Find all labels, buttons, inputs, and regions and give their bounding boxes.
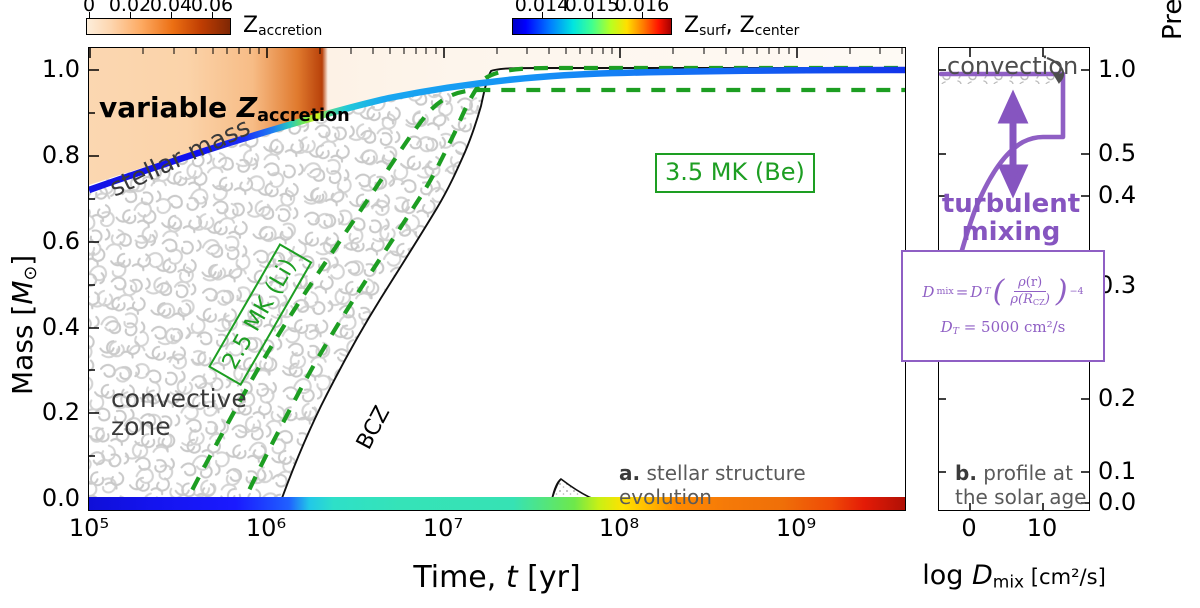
ylabel-symbol: M xyxy=(6,281,39,305)
ylabel-text: Mass [ xyxy=(6,305,39,395)
colorbar-z-surf-center-gradient xyxy=(512,18,672,35)
equation-lhs: D xyxy=(922,283,934,301)
colorbar-z-surf-center: 0.014 0.015 0.016 Zsurf, Zcenter xyxy=(512,18,672,38)
panel-a-caption-label: a. xyxy=(619,461,640,485)
xlabel-text: Time, xyxy=(413,560,506,595)
rho-symbol-den: ρ xyxy=(1010,292,1018,307)
rho-argument-den: (R xyxy=(1018,292,1033,307)
figure-root: 0 0.02 0.04 0.06 Zaccretion 0.014 0.015 … xyxy=(0,0,1200,608)
panel-a-caption: a. stellar structure evolution xyxy=(619,437,839,509)
panel-a-xtick-label: 10⁸ xyxy=(599,514,639,542)
equation-exponent: −4 xyxy=(1070,286,1084,297)
annotation-variable-prefix: variable xyxy=(99,91,237,124)
panel-a-ytick-label: 0.6 xyxy=(42,227,80,255)
panel-a-xlabel: Time, t [yr] xyxy=(413,560,580,595)
colorbar-tick-label: 0.015 xyxy=(565,0,619,16)
equation-paren-close: ) xyxy=(1056,274,1068,309)
xlabel-symbol: t xyxy=(506,560,518,595)
colorbar-title-symbol: Z xyxy=(243,13,258,38)
annotation-turbulent-mixing: turbulent mixing xyxy=(942,190,1080,246)
xlabel-b-subscript: mix xyxy=(993,573,1024,593)
panel-a-ytick-label: 0.0 xyxy=(42,484,80,512)
equation-density-ratio: ρ(r) ρ(RCZ) xyxy=(1006,276,1054,308)
panel-a-caption-text: stellar structure evolution xyxy=(619,461,806,509)
xlabel-b-unit: [cm²/s] xyxy=(1024,564,1106,589)
panel-b-caption: b. profile at the solar age xyxy=(955,437,1090,509)
panel-b-ytick-label: 0.2 xyxy=(1098,384,1136,412)
annotation-convective-zone: convective zone xyxy=(111,385,247,441)
xlabel-unit: [yr] xyxy=(518,560,581,595)
panel-b-xtick-label: 10 xyxy=(1027,514,1058,542)
ylabel-subscript: ⊙ xyxy=(21,266,41,281)
panel-b-xtick-label: 0 xyxy=(961,514,976,542)
panel-b-xlabel: log Dmix [cm²/s] xyxy=(922,560,1106,593)
panel-a-xtick-label: 10⁷ xyxy=(423,514,463,542)
colorbar-z-accretion: 0 0.02 0.04 0.06 Zaccretion xyxy=(86,18,231,38)
colorbar-title-subscript: surf xyxy=(699,23,726,39)
xlabel-b-text: log xyxy=(922,560,972,591)
ylabel-b-text: Present-day solar radius [ xyxy=(1158,0,1188,40)
panel-a-xtick-label: 10⁹ xyxy=(776,514,816,542)
panel-a-ylabel: Mass [M⊙] xyxy=(6,255,41,395)
colorbar-z-accretion-title: Zaccretion xyxy=(243,13,322,39)
rho-argument-den-close: ) xyxy=(1045,292,1050,307)
equation-dt: D xyxy=(970,283,982,301)
equation-dt-subscript: T xyxy=(984,286,990,297)
panel-a-ytick-label: 0.4 xyxy=(42,313,80,341)
panel-a-ytick-label: 0.8 xyxy=(42,141,80,169)
colorbar-z-surf-center-title: Zsurf, Zcenter xyxy=(684,13,799,39)
panel-b-ytick-label: 0.4 xyxy=(1098,181,1136,209)
panel-b-caption-label: b. xyxy=(955,461,977,485)
annotation-variable-z-accretion: variable Zaccretion xyxy=(99,58,350,126)
equation-dt-2: D xyxy=(941,318,953,336)
equation-line-1: Dmix = DT ( ρ(r) ρ(RCZ) )−4 xyxy=(922,274,1083,309)
panel-b-ytick-label: 0.0 xyxy=(1098,488,1136,516)
panel-a-ytick-label: 0.2 xyxy=(42,398,80,426)
equation-line-2: DT = 5000 cm²/s xyxy=(941,318,1066,337)
equation-paren-open: ( xyxy=(993,274,1005,309)
annotation-box-35mk-be: 3.5 MK (Be) xyxy=(655,153,815,193)
panel-a-xtick-label: 10⁵ xyxy=(69,514,109,542)
annotation-convection: convection xyxy=(947,52,1078,80)
equation-lhs-subscript: mix xyxy=(936,286,953,297)
panel-b-ytick-label: 1.0 xyxy=(1098,55,1136,83)
colorbar-tick-label: 0.014 xyxy=(515,0,569,16)
colorbar-tick-label: 0.04 xyxy=(150,0,192,16)
colorbar-tick-label: 0.06 xyxy=(191,0,233,16)
colorbar-tick-label: 0 xyxy=(83,0,95,16)
colorbar-tick-label: 0.02 xyxy=(109,0,151,16)
panel-b-ytick-label: 0.5 xyxy=(1098,139,1136,167)
annotation-variable-subscript: accretion xyxy=(257,106,350,126)
colorbar-title-separator: , xyxy=(726,13,740,38)
colorbar-title-subscript: accretion xyxy=(258,23,322,39)
colorbar-title-symbol: Z xyxy=(684,13,699,38)
equation-denominator: ρ(RCZ) xyxy=(1006,292,1054,308)
colorbar-z-accretion-gradient xyxy=(86,18,231,35)
equation-numerator: ρ(r) xyxy=(1014,276,1046,293)
panel-a-stellar-structure-evolution: variable Zaccretion stellar mass convect… xyxy=(88,47,906,511)
rcz-subscript: CZ xyxy=(1033,297,1045,307)
rho-argument: (r) xyxy=(1026,275,1042,290)
colorbar-title-subscript-2: center xyxy=(755,23,800,39)
panel-a-ytick-label: 1.0 xyxy=(42,55,80,83)
colorbar-tick-label: 0.016 xyxy=(615,0,669,16)
panel-a-xtick-label: 10⁶ xyxy=(246,514,286,542)
panel-b-ytick-label: 0.1 xyxy=(1098,457,1136,485)
ylabel-close: ] xyxy=(6,255,39,266)
equation-dt-2-value: = 5000 cm²/s xyxy=(959,318,1065,336)
equation-equals: = xyxy=(956,283,969,301)
colorbar-title-symbol-2: Z xyxy=(740,13,755,38)
equation-box-dmix: Dmix = DT ( ρ(r) ρ(RCZ) )−4 DT = 5000 cm… xyxy=(901,250,1105,362)
rho-symbol: ρ xyxy=(1018,275,1026,290)
panel-b-ylabel: Present-day solar radius [R⊙] xyxy=(1158,0,1189,40)
xlabel-b-symbol: D xyxy=(972,560,993,591)
